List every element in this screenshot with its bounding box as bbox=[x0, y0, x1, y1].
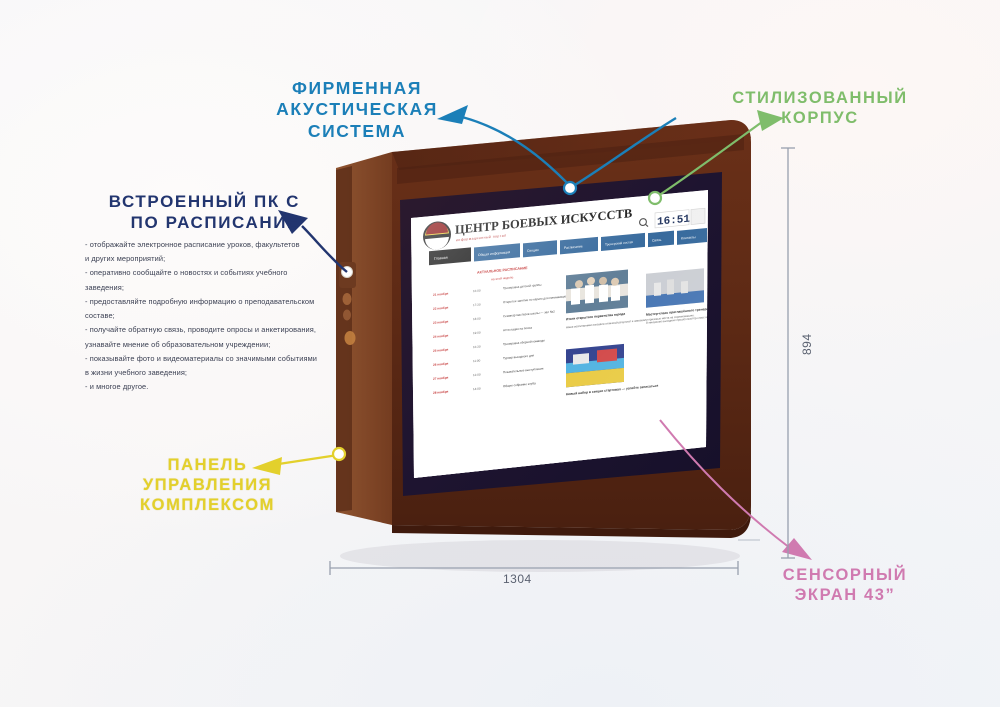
feature-line: заведения; bbox=[85, 281, 337, 295]
feature-line: и других мероприятий; bbox=[85, 252, 337, 266]
dimension-height-label: 894 bbox=[800, 333, 814, 355]
callout-touch-line1: СЕНСОРНЫЙ bbox=[740, 565, 950, 585]
callout-touch: СЕНСОРНЫЙ ЭКРАН 43” bbox=[740, 565, 950, 605]
callout-pc-line1: ВСТРОЕННЫЙ ПК С bbox=[90, 192, 300, 213]
dimension-width-label: 1304 bbox=[503, 572, 532, 586]
callout-panel-line3: КОМПЛЕКСОМ bbox=[120, 495, 295, 515]
callout-panel-line2: УПРАВЛЕНИЯ bbox=[120, 475, 295, 495]
feature-list: - отображайте электронное расписание уро… bbox=[85, 238, 337, 394]
callout-body-line2: КОРПУС bbox=[700, 108, 940, 128]
infographic-stage: ЦЕНТР БОЕВЫХ ИСКУССТВ информационный пор… bbox=[0, 0, 1000, 707]
callout-panel-line1: ПАНЕЛЬ bbox=[120, 455, 295, 475]
callout-acoustic: ФИРМЕННАЯ АКУСТИЧЕСКАЯ СИСТЕМА bbox=[212, 78, 502, 142]
feature-line: - и многое другое. bbox=[85, 380, 337, 394]
callout-panel: ПАНЕЛЬ УПРАВЛЕНИЯ КОМПЛЕКСОМ bbox=[120, 455, 295, 515]
feature-line: - отображайте электронное расписание уро… bbox=[85, 238, 337, 252]
feature-line: - оперативно сообщайте о новостях и собы… bbox=[85, 266, 337, 280]
callout-body-line1: СТИЛИЗОВАННЫЙ bbox=[700, 88, 940, 108]
callout-body: СТИЛИЗОВАННЫЙ КОРПУС bbox=[700, 88, 940, 128]
feature-line: - получайте обратную связь, проводите оп… bbox=[85, 323, 337, 337]
feature-line: в жизни учебного заведения; bbox=[85, 366, 337, 380]
dot-yellow-marker bbox=[333, 448, 345, 460]
callout-acoustic-line1: ФИРМЕННАЯ АКУСТИЧЕСКАЯ bbox=[212, 78, 502, 121]
vent-hole bbox=[343, 310, 351, 321]
kiosk-shadow bbox=[340, 540, 740, 572]
vent-hole bbox=[343, 293, 352, 305]
feature-line: составе; bbox=[85, 309, 337, 323]
vent-hole bbox=[345, 331, 356, 345]
dimension-height bbox=[781, 148, 795, 558]
feature-line: - предоставляйте подробную информацию о … bbox=[85, 295, 337, 309]
callout-pc: ВСТРОЕННЫЙ ПК С ПО РАСПИСАНИЕ bbox=[90, 192, 300, 233]
feature-line: узнавайте мнение об образовательном учре… bbox=[85, 338, 337, 352]
dot-green-marker bbox=[649, 192, 661, 204]
screen-glare bbox=[411, 190, 708, 478]
dot-blue-marker bbox=[564, 182, 576, 194]
callout-pc-line2: ПО РАСПИСАНИЕ bbox=[90, 213, 300, 234]
callout-acoustic-line2: СИСТЕМА bbox=[212, 121, 502, 142]
callout-touch-line2: ЭКРАН 43” bbox=[740, 585, 950, 605]
feature-line: - показывайте фото и видеоматериалы со з… bbox=[85, 352, 337, 366]
